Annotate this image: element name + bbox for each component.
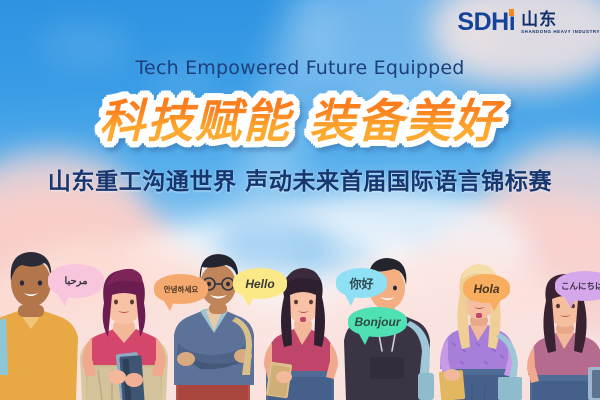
people-illustration-svg — [0, 225, 600, 400]
sdhi-logo: SDHi 山东 SHANDONG HEAVY INDUSTRY — [457, 10, 600, 35]
logo-wordmark-text: SDHi — [457, 8, 515, 36]
logo-wordmark: SDHi — [457, 10, 515, 35]
logo-chinese-block: 山东 SHANDONG HEAVY INDUSTRY — [521, 11, 600, 35]
people-illustration — [0, 225, 600, 400]
logo-chinese-text: 山东 — [521, 11, 557, 28]
logo-i-dot-icon — [509, 9, 514, 16]
speech-bubble-french: Bonjour — [348, 307, 407, 337]
english-tagline: Tech Empowered Future Equipped — [0, 57, 600, 79]
speech-bubble-english: Hello — [233, 268, 287, 299]
speech-bubble-japanese: こんにちは — [555, 271, 600, 301]
chinese-main-headline: 科技赋能 装备美好 — [0, 85, 600, 151]
speech-bubble-korean: 안녕하세요 — [154, 274, 208, 304]
chinese-subtitle: 山东重工沟通世界 声动未来首届国际语言锦标赛 — [0, 162, 600, 196]
speech-bubble-chinese: 你好 — [336, 268, 387, 298]
promo-banner: SDHi 山东 SHANDONG HEAVY INDUSTRY Tech Emp… — [0, 0, 600, 400]
logo-pinyin-text: SHANDONG HEAVY INDUSTRY — [521, 30, 600, 34]
speech-bubble-spanish: Hola — [463, 274, 510, 303]
speech-bubble-arabic: مرحبا — [48, 264, 104, 298]
